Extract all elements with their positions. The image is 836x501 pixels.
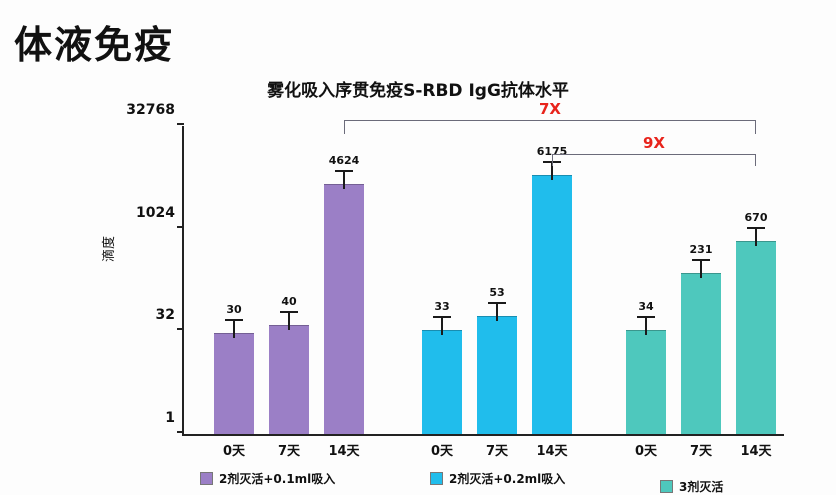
fold-change-bracket [552,154,756,166]
legend-item-label: 2剂灭活+0.1ml吸入 [219,470,335,487]
y-tick-label: 32768 [126,102,184,118]
legend-item[interactable]: 2剂灭活+0.1ml吸入 [200,470,335,487]
legend-swatch-icon [430,472,443,485]
bar [269,325,309,434]
x-tick-label: 7天 [467,440,527,459]
bar-value-label: 231 [671,243,731,256]
x-tick-label: 14天 [522,440,582,459]
error-bar [645,318,647,335]
bar-value-label: 33 [412,300,472,313]
x-tick-label: 0天 [204,440,264,459]
error-bar-cap [225,319,243,321]
legend-item-label: 3剂灭活 [679,478,723,495]
legend-item-label: 2剂灭活+0.2ml吸入 [449,470,565,487]
error-bar-cap [488,302,506,304]
chart-title: 雾化吸入序贯免疫S-RBD IgG抗体水平 [0,76,836,101]
bar-value-label: 53 [467,286,527,299]
fold-change-label: 7X [525,100,575,118]
error-bar-cap [335,170,353,172]
legend-item[interactable]: 3剂灭活 [660,478,723,495]
legend-swatch-icon [200,472,213,485]
error-bar [288,313,290,330]
error-bar [441,318,443,335]
legend: 2剂灭活+0.1ml吸入 2剂灭活+0.2ml吸入 3剂灭活 [182,466,822,494]
error-bar [343,172,345,189]
x-tick-label: 7天 [259,440,319,459]
y-tick-label: 32 [156,307,184,323]
x-tick-label: 14天 [314,440,374,459]
bar [681,273,721,434]
y-tick-label: 1 [165,410,184,426]
chart-page: 体液免疫 雾化吸入序贯免疫S-RBD IgG抗体水平 滴度 1 32 1024 … [0,0,836,501]
bar [626,330,666,434]
error-bar-cap [433,316,451,318]
page-title: 体液免疫 [14,14,174,69]
legend-item[interactable]: 2剂灭活+0.2ml吸入 [430,470,565,487]
bar-value-label: 30 [204,303,264,316]
fold-change-bracket [344,120,756,134]
x-tick-label: 0天 [616,440,676,459]
error-bar-cap [280,311,298,313]
error-bar [551,163,553,180]
bar [214,333,254,434]
bar [324,184,364,434]
y-tick-label: 1024 [136,205,184,221]
error-bar [233,321,235,338]
bar-value-label: 40 [259,295,319,308]
error-bar [755,229,757,246]
bar-value-label: 34 [616,300,676,313]
bar [477,316,517,434]
bar [736,241,776,434]
error-bar-cap [747,227,765,229]
fold-change-label: 9X [629,134,679,152]
error-bar [700,261,702,278]
error-bar-cap [637,316,655,318]
bottom-edge [0,495,836,501]
bar-value-label: 670 [726,211,786,224]
bar [422,330,462,434]
x-tick-label: 7天 [671,440,731,459]
bar-value-label: 4624 [314,154,374,167]
x-tick-label: 0天 [412,440,472,459]
error-bar-cap [692,259,710,261]
plot-area: 1 32 1024 32768 300天407天462414天330天537天6… [182,126,784,436]
y-axis-label: 滴度 [98,236,117,262]
x-tick-label: 14天 [726,440,786,459]
legend-swatch-icon [660,480,673,493]
bar [532,175,572,434]
error-bar [496,304,498,321]
